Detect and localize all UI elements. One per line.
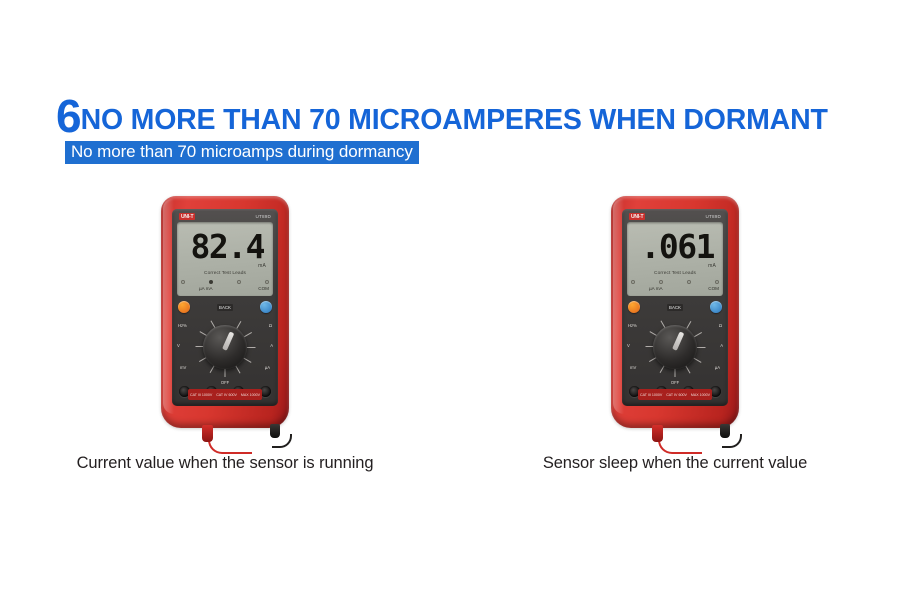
dial-label-hz: Hz% (178, 323, 187, 328)
port-dot-4 (265, 280, 269, 284)
rotary-selector-knob[interactable] (653, 325, 697, 369)
meter-faceplate: UNI-T UT89D 82.4 mA Correct Test Leads µ… (172, 209, 278, 406)
lcd-screen-left: 82.4 mA Correct Test Leads µA mA COM (177, 222, 273, 296)
port-label-com: COM (258, 286, 269, 291)
dial-label-off: OFF (671, 380, 679, 385)
page-title: NO MORE THAN 70 MICROAMPERES WHEN DORMAN… (81, 106, 828, 135)
brand-logo: UNI-T (179, 213, 195, 220)
dial-label-ohm: Ω (269, 323, 272, 328)
test-lead-red-plug (652, 425, 663, 442)
dial-label-off: OFF (221, 380, 229, 385)
dial-label-ohm: Ω (719, 323, 722, 328)
port-dot-2 (209, 280, 213, 284)
rating-strip: CAT III 1000V CAT IV 600V MAX 1000V (188, 389, 262, 400)
rating-cat4: CAT IV 600V (216, 393, 237, 397)
dial-label-hz: Hz% (628, 323, 637, 328)
port-dot-1 (631, 280, 635, 284)
dial-label-a: A (720, 343, 723, 348)
test-lead-red-wire (658, 432, 702, 454)
model-label: UT89D (705, 214, 721, 219)
model-label: UT89D (255, 214, 271, 219)
test-lead-red-wire (208, 432, 252, 454)
lcd-reading: 82.4 (177, 230, 264, 263)
lcd-warning-text: Correct Test Leads (177, 271, 273, 276)
port-label-com: COM (708, 286, 719, 291)
test-lead-black-plug (270, 424, 280, 438)
heading-number: 6 (56, 99, 81, 135)
dial-label-mv: mV (180, 365, 186, 370)
lcd-port-indicators (181, 280, 269, 284)
port-dot-3 (237, 280, 241, 284)
meter-brand-bar: UNI-T UT89D (176, 212, 274, 221)
dial-label-ua: µA (265, 365, 270, 370)
port-dot-4 (715, 280, 719, 284)
port-dot-3 (687, 280, 691, 284)
port-dot-1 (181, 280, 185, 284)
heading-row: 6 NO MORE THAN 70 MICROAMPERES WHEN DORM… (56, 96, 856, 135)
backlight-button[interactable]: BACK (667, 304, 683, 311)
lcd-port-labels: µA mA COM (631, 286, 719, 291)
port-label-ua-ma: µA mA (199, 286, 213, 291)
dial-label-v: V (627, 343, 630, 348)
panel-running: UNI-T UT89D 82.4 mA Correct Test Leads µ… (0, 196, 450, 473)
caption-running: Current value when the sensor is running (77, 454, 374, 473)
meter-brand-bar: UNI-T UT89D (626, 212, 724, 221)
rotary-dial-zone: Hz% V mV Ω A µA OFF (176, 311, 274, 383)
lcd-port-indicators (631, 280, 719, 284)
meter-faceplate: UNI-T UT89D .061 mA Correct Test Leads µ… (622, 209, 728, 406)
heading-block: 6 NO MORE THAN 70 MICROAMPERES WHEN DORM… (56, 96, 856, 164)
dial-label-a: A (270, 343, 273, 348)
lcd-unit-label: mA (258, 263, 266, 269)
lcd-screen-right: .061 mA Correct Test Leads µA mA COM (627, 222, 723, 296)
rating-cat3: CAT III 1000V (640, 393, 662, 397)
caption-sleeping: Sensor sleep when the current value (543, 454, 807, 473)
rating-cat3: CAT III 1000V (190, 393, 212, 397)
port-dot-2 (659, 280, 663, 284)
dial-label-mv: mV (630, 365, 636, 370)
lcd-unit-label: mA (708, 263, 716, 269)
multimeter-left: UNI-T UT89D 82.4 mA Correct Test Leads µ… (161, 196, 289, 428)
port-label-ua-ma: µA mA (649, 286, 663, 291)
dial-label-ua: µA (715, 365, 720, 370)
rotary-dial-zone: Hz% V mV Ω A µA OFF (626, 311, 724, 383)
lcd-port-labels: µA mA COM (181, 286, 269, 291)
rating-strip: CAT III 1000V CAT IV 600V MAX 1000V (638, 389, 712, 400)
dial-label-v: V (177, 343, 180, 348)
brand-logo: UNI-T (629, 213, 645, 220)
rating-max: MAX 1000V (691, 393, 710, 397)
test-lead-black-plug (720, 424, 730, 438)
rating-cat4: CAT IV 600V (666, 393, 687, 397)
subtitle-bar: No more than 70 microamps during dormanc… (65, 141, 419, 165)
rotary-selector-knob[interactable] (203, 325, 247, 369)
lcd-warning-text: Correct Test Leads (627, 271, 723, 276)
panel-sleeping: UNI-T UT89D .061 mA Correct Test Leads µ… (450, 196, 900, 473)
backlight-button[interactable]: BACK (217, 304, 233, 311)
meter-panels: UNI-T UT89D 82.4 mA Correct Test Leads µ… (0, 196, 900, 473)
rating-max: MAX 1000V (241, 393, 260, 397)
multimeter-right: UNI-T UT89D .061 mA Correct Test Leads µ… (611, 196, 739, 428)
lcd-reading: .061 (627, 230, 714, 263)
test-lead-red-plug (202, 425, 213, 442)
